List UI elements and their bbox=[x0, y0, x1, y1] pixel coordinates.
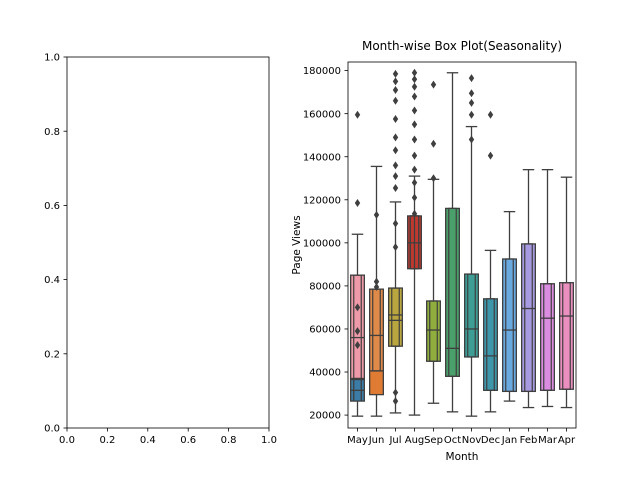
chart-title: Month-wise Box Plot(Seasonality) bbox=[362, 39, 562, 53]
boxplot-y-tick-label: 100000 bbox=[303, 238, 341, 249]
box-overlay-jun bbox=[370, 371, 384, 395]
outlier-marker bbox=[393, 115, 398, 123]
outlier-marker bbox=[355, 111, 360, 119]
boxplot-x-tick-label: Jan bbox=[501, 435, 517, 446]
outlier-marker bbox=[469, 111, 474, 119]
box-body bbox=[351, 275, 365, 378]
left-x-tick-label: 0.4 bbox=[140, 435, 156, 446]
left-axes: 0.00.20.40.60.81.00.00.20.40.60.81.0 bbox=[44, 53, 277, 446]
box-group bbox=[465, 74, 479, 416]
box-overlay-body bbox=[370, 371, 384, 395]
boxplot-x-tick-label: Oct bbox=[444, 435, 461, 446]
outlier-marker bbox=[412, 152, 417, 160]
outlier-marker bbox=[393, 70, 398, 78]
outlier-marker bbox=[431, 140, 436, 148]
outlier-marker bbox=[412, 75, 417, 83]
outlier-marker bbox=[393, 133, 398, 141]
left-axes-frame bbox=[67, 57, 269, 428]
box-group bbox=[503, 212, 517, 401]
x-axis-label: Month bbox=[446, 451, 479, 463]
boxplot-y-tick-label: 180000 bbox=[303, 66, 341, 77]
box-group bbox=[484, 111, 498, 412]
boxplot-x-tick-label: Feb bbox=[520, 435, 538, 446]
left-x-tick-label: 0.2 bbox=[99, 435, 115, 446]
figure-canvas: 0.00.20.40.60.81.00.00.20.40.60.81.0Mont… bbox=[0, 0, 640, 480]
left-y-tick-label: 0.4 bbox=[44, 275, 60, 286]
outlier-marker bbox=[393, 172, 398, 180]
outlier-marker bbox=[393, 146, 398, 154]
outlier-marker bbox=[393, 77, 398, 85]
outlier-marker bbox=[469, 136, 474, 144]
left-y-tick-label: 0.0 bbox=[44, 424, 60, 435]
boxplot-x-tick-label: Apr bbox=[558, 435, 576, 446]
outlier-marker bbox=[393, 184, 398, 192]
outlier-marker bbox=[469, 89, 474, 97]
outlier-marker bbox=[412, 92, 417, 100]
left-x-tick-label: 0.8 bbox=[221, 435, 237, 446]
box-group bbox=[446, 73, 460, 412]
outlier-marker bbox=[393, 219, 398, 227]
boxplot-x-tick-label: Nov bbox=[462, 435, 482, 446]
boxplot-y-tick-label: 40000 bbox=[309, 368, 341, 379]
outlier-marker bbox=[412, 83, 417, 91]
box-body bbox=[446, 208, 460, 376]
boxplot-y-tick-label: 140000 bbox=[303, 152, 341, 163]
matplotlib-figure: 0.00.20.40.60.81.00.00.20.40.60.81.0Mont… bbox=[0, 0, 640, 480]
outlier-marker bbox=[488, 111, 493, 119]
box-group bbox=[351, 111, 365, 416]
box-body bbox=[522, 244, 536, 391]
outlier-marker bbox=[488, 152, 493, 160]
outlier-marker bbox=[393, 388, 398, 396]
box-overlay-may bbox=[351, 380, 365, 402]
outlier-marker bbox=[412, 194, 417, 202]
left-y-tick-label: 0.6 bbox=[44, 201, 60, 212]
outlier-marker bbox=[374, 211, 379, 219]
outlier-marker bbox=[355, 199, 360, 207]
boxplot-x-tick-label: Aug bbox=[405, 435, 425, 446]
boxplot-axes: Month-wise Box Plot(Seasonality)20000400… bbox=[291, 39, 576, 463]
box-group bbox=[427, 81, 441, 404]
box-overlay-aug bbox=[410, 216, 418, 269]
y-axis-label: Page Views bbox=[291, 215, 303, 274]
left-x-tick-label: 1.0 bbox=[261, 435, 277, 446]
outlier-marker bbox=[412, 106, 417, 114]
box-group bbox=[560, 177, 574, 407]
boxplot-y-tick-label: 60000 bbox=[309, 325, 341, 336]
box-group bbox=[522, 170, 536, 408]
left-x-tick-label: 0.0 bbox=[59, 435, 75, 446]
box-body bbox=[484, 299, 498, 391]
box-body bbox=[541, 284, 555, 391]
left-y-tick-label: 1.0 bbox=[44, 53, 60, 64]
boxplot-x-tick-label: May bbox=[347, 435, 368, 446]
boxplot-y-tick-label: 80000 bbox=[309, 282, 341, 293]
outlier-marker bbox=[412, 179, 417, 187]
box-body bbox=[389, 288, 403, 346]
boxplot-x-tick-label: Jul bbox=[388, 435, 401, 446]
box-body bbox=[503, 259, 517, 391]
box-group bbox=[389, 70, 403, 413]
outlier-marker bbox=[393, 97, 398, 105]
outlier-marker bbox=[412, 120, 417, 128]
box-body bbox=[427, 301, 441, 361]
boxplot-x-tick-label: Mar bbox=[538, 435, 558, 446]
outlier-marker bbox=[431, 174, 436, 182]
box-body bbox=[560, 283, 574, 390]
boxplot-x-tick-label: Dec bbox=[481, 435, 500, 446]
boxplot-y-tick-label: 120000 bbox=[303, 195, 341, 206]
boxplot-y-tick-label: 20000 bbox=[309, 411, 341, 422]
box-body bbox=[465, 274, 479, 357]
outlier-marker bbox=[393, 161, 398, 169]
boxplot-x-tick-label: Jun bbox=[368, 435, 385, 446]
outlier-marker bbox=[412, 166, 417, 174]
outlier-marker bbox=[393, 86, 398, 94]
left-y-tick-label: 0.2 bbox=[44, 349, 60, 360]
outlier-marker bbox=[393, 243, 398, 251]
box-group bbox=[541, 170, 555, 407]
box-body bbox=[370, 289, 384, 371]
outlier-marker bbox=[469, 74, 474, 82]
outlier-marker bbox=[393, 397, 398, 405]
left-y-tick-label: 0.8 bbox=[44, 127, 60, 138]
outlier-marker bbox=[469, 99, 474, 107]
left-x-tick-label: 0.6 bbox=[180, 435, 196, 446]
boxplot-y-tick-label: 160000 bbox=[303, 109, 341, 120]
boxplot-x-tick-label: Sep bbox=[424, 435, 443, 446]
outlier-marker bbox=[431, 81, 436, 89]
outlier-marker bbox=[412, 136, 417, 144]
